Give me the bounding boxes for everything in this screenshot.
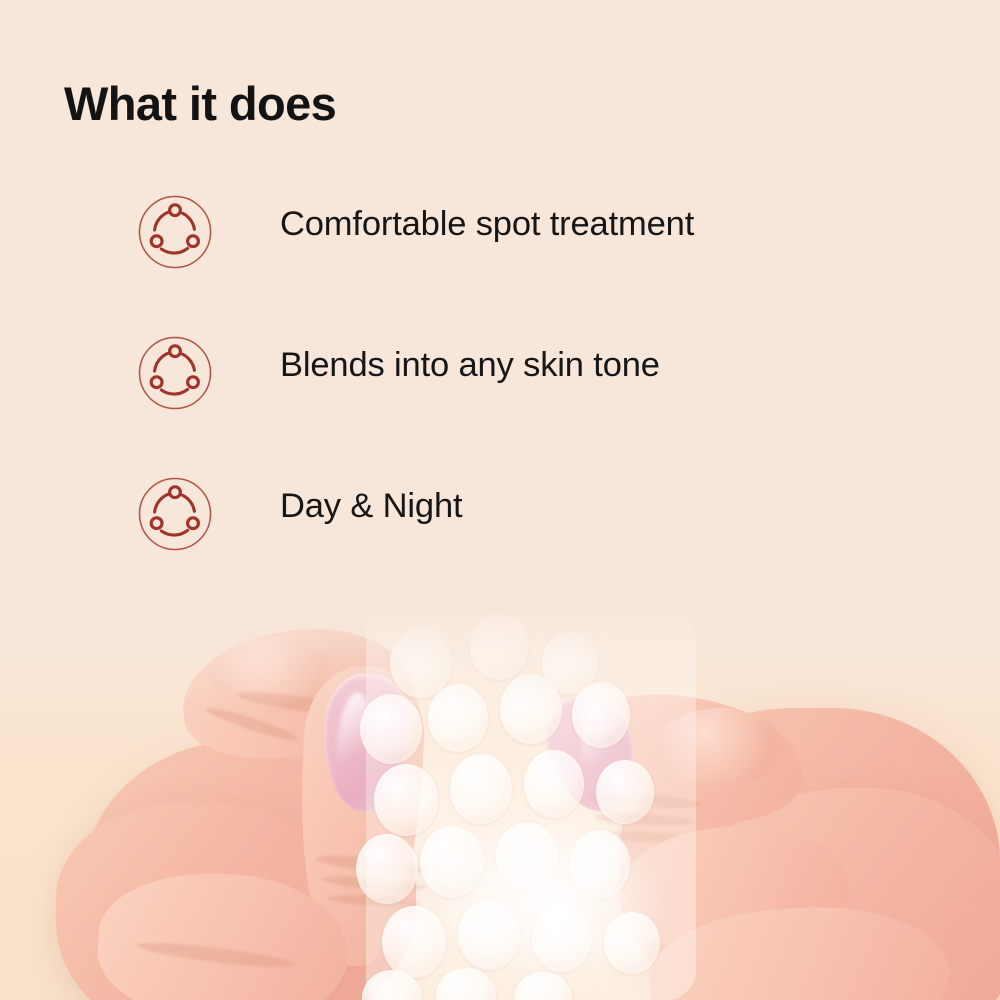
network-nodes-circle-icon [137,194,213,270]
product-photo [0,560,1000,1000]
page-title: What it does [64,75,336,133]
feature-label: Comfortable spot treatment [280,202,694,247]
product-feature-panel: What it does Comfortable spot treatment [0,0,1000,1000]
feature-label: Day & Night [280,484,462,529]
network-nodes-circle-icon [137,476,213,552]
sheet-highlight [430,810,670,990]
feature-label: Blends into any skin tone [280,343,660,388]
feature-row: Blends into any skin tone [0,319,1000,460]
feature-list: Comfortable spot treatment Blends into a… [0,178,1000,601]
feature-row: Comfortable spot treatment [0,178,1000,319]
network-nodes-circle-icon [137,335,213,411]
